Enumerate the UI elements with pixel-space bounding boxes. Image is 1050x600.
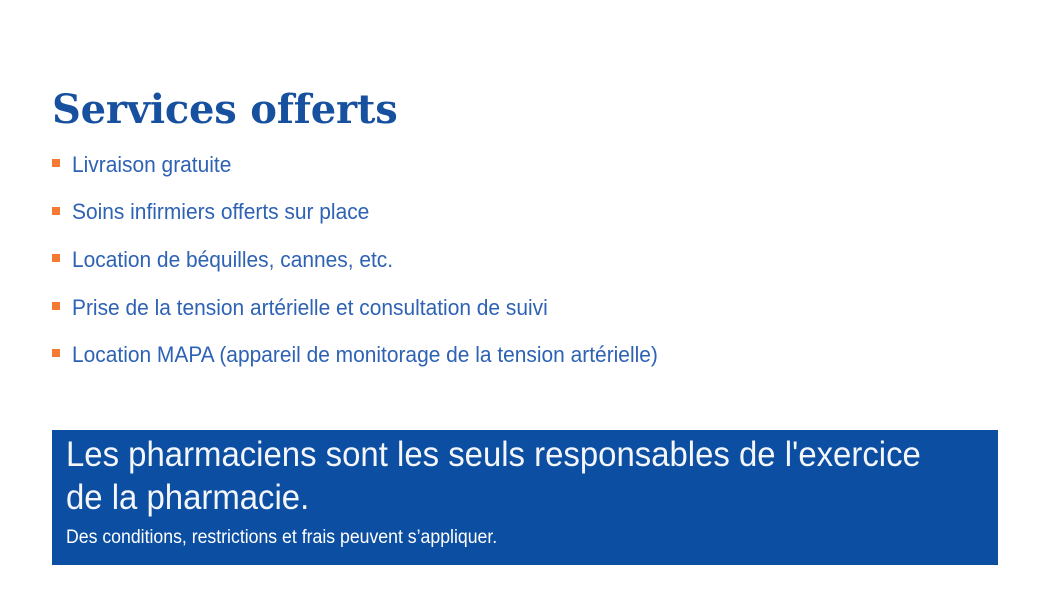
list-item: Livraison gratuite bbox=[52, 141, 952, 189]
square-bullet-icon bbox=[52, 254, 60, 262]
services-list: Livraison gratuite Soins infirmiers offe… bbox=[52, 141, 952, 379]
list-item: Location MAPA (appareil de monitorage de… bbox=[52, 331, 952, 379]
list-item-label: Soins infirmiers offerts sur place bbox=[72, 199, 369, 225]
page-title: Services offerts bbox=[52, 86, 398, 134]
disclaimer-callout-box: Les pharmaciens sont les seuls responsab… bbox=[52, 430, 998, 565]
list-item-label: Location MAPA (appareil de monitorage de… bbox=[72, 342, 658, 368]
list-item: Location de béquilles, cannes, etc. bbox=[52, 236, 952, 284]
callout-subtext: Des conditions, restrictions et frais pe… bbox=[66, 526, 922, 550]
square-bullet-icon bbox=[52, 302, 60, 310]
square-bullet-icon bbox=[52, 349, 60, 357]
slide-canvas: Services offerts Livraison gratuite Soin… bbox=[0, 0, 1050, 600]
list-item: Soins infirmiers offerts sur place bbox=[52, 189, 952, 237]
square-bullet-icon bbox=[52, 159, 60, 167]
list-item-label: Livraison gratuite bbox=[72, 152, 231, 178]
list-item: Prise de la tension artérielle et consul… bbox=[52, 284, 952, 332]
square-bullet-icon bbox=[52, 207, 60, 215]
callout-headline: Les pharmaciens sont les seuls responsab… bbox=[66, 433, 931, 519]
list-item-label: Prise de la tension artérielle et consul… bbox=[72, 295, 548, 321]
list-item-label: Location de béquilles, cannes, etc. bbox=[72, 247, 393, 273]
